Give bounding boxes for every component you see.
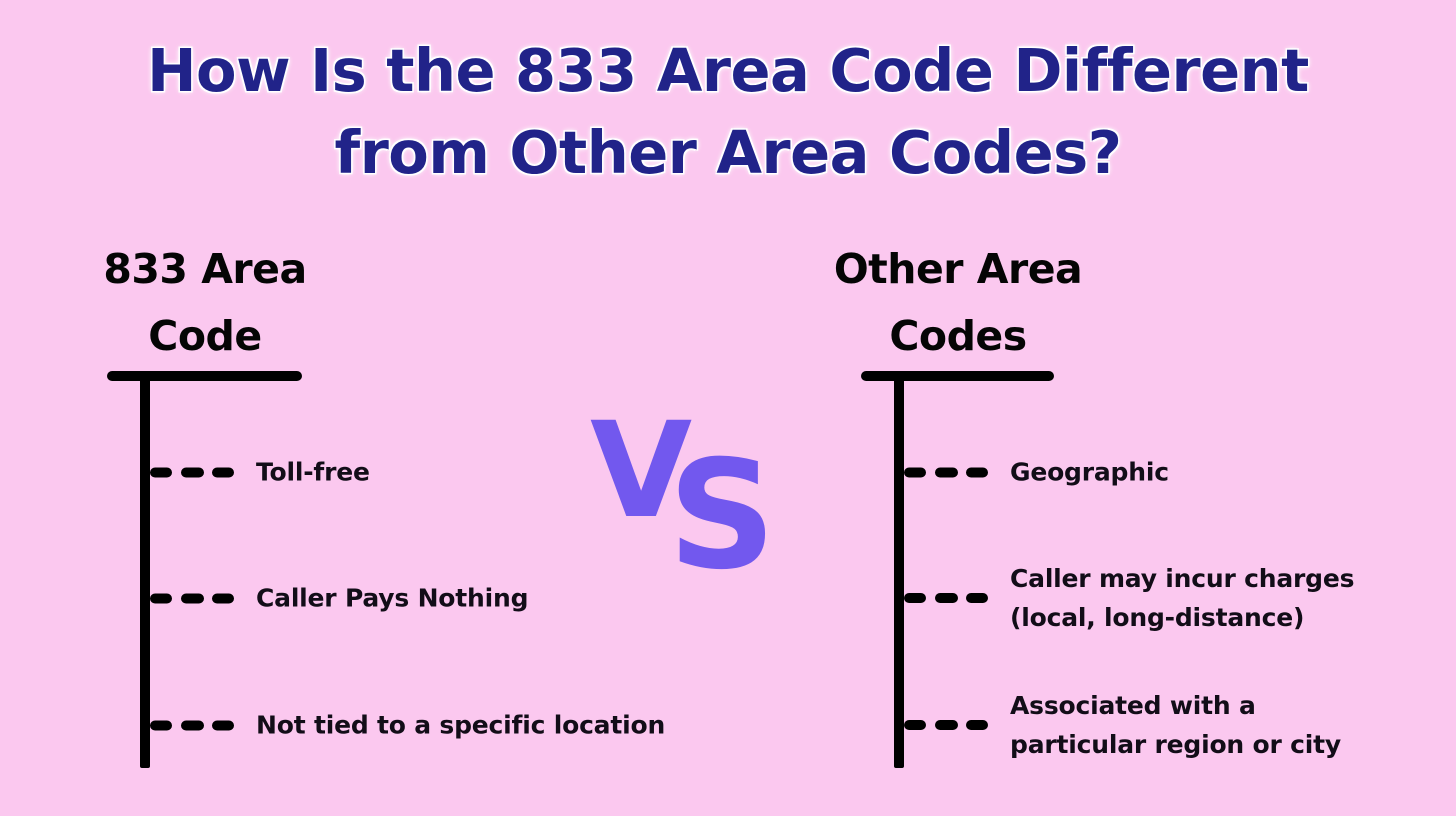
- dashed-connector-icon: [904, 467, 988, 477]
- list-item: Caller Pays Nothing: [150, 579, 528, 618]
- list-item: Not tied to a specific location: [150, 706, 665, 745]
- versus-badge: V S: [590, 405, 790, 570]
- list-item-label: Associated with a particular region or c…: [1010, 686, 1341, 764]
- list-item-label: Caller may incur charges (local, long-di…: [1010, 559, 1354, 637]
- column-header-other-area-codes: Other Area Codes: [808, 236, 1108, 370]
- dashed-connector-icon: [150, 467, 234, 477]
- bracket-stem-left: [140, 371, 150, 768]
- bracket-stem-right: [894, 371, 904, 768]
- bracket-top-bar-left: [107, 371, 302, 381]
- list-item: Toll-free: [150, 453, 370, 492]
- list-item: Caller may incur charges (local, long-di…: [904, 559, 1354, 637]
- dashed-connector-icon: [904, 593, 988, 603]
- column-header-833-area-code: 833 Area Code: [55, 236, 355, 370]
- bracket-top-bar-right: [861, 371, 1054, 381]
- list-item-label: Geographic: [1010, 453, 1169, 492]
- dashed-connector-icon: [150, 593, 234, 603]
- list-item-label: Toll-free: [256, 453, 370, 492]
- versus-letter-s: S: [668, 441, 776, 591]
- dashed-connector-icon: [150, 720, 234, 730]
- list-item-label: Caller Pays Nothing: [256, 579, 528, 618]
- list-item-label: Not tied to a specific location: [256, 706, 665, 745]
- infographic-canvas: How Is the 833 Area Code Different from …: [0, 0, 1456, 816]
- dashed-connector-icon: [904, 720, 988, 730]
- list-item: Geographic: [904, 453, 1169, 492]
- list-item: Associated with a particular region or c…: [904, 686, 1341, 764]
- page-title: How Is the 833 Area Code Different from …: [0, 30, 1456, 194]
